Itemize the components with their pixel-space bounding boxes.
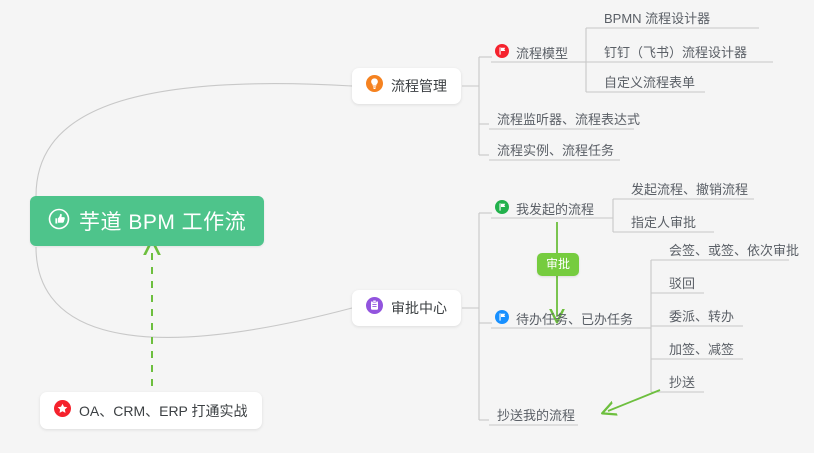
thumbs-up-icon bbox=[48, 208, 70, 235]
leaf-label: 会签、或签、依次审批 bbox=[669, 242, 799, 260]
subnode-my-initiated[interactable]: 我发起的流程 bbox=[493, 200, 600, 223]
subnode-label: 流程模型 bbox=[516, 45, 568, 63]
leaf-label: 抄送我的流程 bbox=[497, 407, 575, 425]
leaf-delegate-transfer[interactable]: 委派、转办 bbox=[663, 308, 740, 330]
clipboard-icon bbox=[366, 297, 383, 319]
leaf-label: 委派、转办 bbox=[669, 308, 734, 326]
leaf-label: 流程监听器、流程表达式 bbox=[497, 111, 640, 129]
approval-badge-label: 审批 bbox=[546, 257, 570, 271]
lightbulb-icon bbox=[366, 75, 383, 97]
leaf-process-listener[interactable]: 流程监听器、流程表达式 bbox=[491, 111, 646, 133]
leaf-reject[interactable]: 驳回 bbox=[663, 275, 701, 297]
flag-icon bbox=[495, 310, 509, 329]
subnode-process-model[interactable]: 流程模型 bbox=[493, 44, 574, 67]
leaf-cc-to-me[interactable]: 抄送我的流程 bbox=[491, 407, 581, 429]
star-icon bbox=[54, 400, 71, 422]
branch-label-process-management: 流程管理 bbox=[391, 76, 447, 96]
leaf-label: 驳回 bbox=[669, 275, 695, 293]
leaf-label: BPMN 流程设计器 bbox=[604, 10, 710, 28]
leaf-assignee-approval[interactable]: 指定人审批 bbox=[625, 214, 702, 236]
leaf-custom-form[interactable]: 自定义流程表单 bbox=[598, 74, 701, 96]
flag-icon bbox=[495, 200, 509, 219]
subnode-label: 待办任务、已办任务 bbox=[516, 311, 633, 329]
approval-badge: 审批 bbox=[537, 253, 579, 276]
leaf-dingtalk-designer[interactable]: 钉钉（飞书）流程设计器 bbox=[598, 44, 753, 66]
branch-node-process-management[interactable]: 流程管理 bbox=[352, 68, 461, 104]
subnode-label: 我发起的流程 bbox=[516, 201, 594, 219]
integration-note-label: OA、CRM、ERP 打通实战 bbox=[79, 401, 248, 421]
root-label: 芋道 BPM 工作流 bbox=[79, 206, 246, 236]
leaf-cc[interactable]: 抄送 bbox=[663, 374, 701, 396]
leaf-countersign[interactable]: 会签、或签、依次审批 bbox=[663, 242, 805, 264]
leaf-label: 流程实例、流程任务 bbox=[497, 142, 614, 160]
leaf-start-cancel-process[interactable]: 发起流程、撤销流程 bbox=[625, 181, 754, 203]
mindmap-canvas: 芋道 BPM 工作流 流程管理 流程模型 BPMN 流程设计器 钉钉（飞书）流程 bbox=[0, 0, 814, 453]
leaf-label: 发起流程、撤销流程 bbox=[631, 181, 748, 199]
leaf-add-remove-sign[interactable]: 加签、减签 bbox=[663, 341, 740, 363]
integration-note-node[interactable]: OA、CRM、ERP 打通实战 bbox=[40, 392, 262, 429]
subnode-todo-tasks[interactable]: 待办任务、已办任务 bbox=[493, 310, 639, 333]
leaf-bpmn-designer[interactable]: BPMN 流程设计器 bbox=[598, 10, 716, 32]
branch-label-approval-center: 审批中心 bbox=[391, 298, 447, 318]
leaf-label: 加签、减签 bbox=[669, 341, 734, 359]
leaf-label: 钉钉（飞书）流程设计器 bbox=[604, 44, 747, 62]
root-node[interactable]: 芋道 BPM 工作流 bbox=[30, 196, 264, 246]
branch-node-approval-center[interactable]: 审批中心 bbox=[352, 290, 461, 326]
flag-icon bbox=[495, 44, 509, 63]
leaf-process-instance[interactable]: 流程实例、流程任务 bbox=[491, 142, 620, 164]
leaf-label: 自定义流程表单 bbox=[604, 74, 695, 92]
cc-flow-arrow bbox=[608, 390, 660, 411]
leaf-label: 抄送 bbox=[669, 374, 695, 392]
leaf-label: 指定人审批 bbox=[631, 214, 696, 232]
